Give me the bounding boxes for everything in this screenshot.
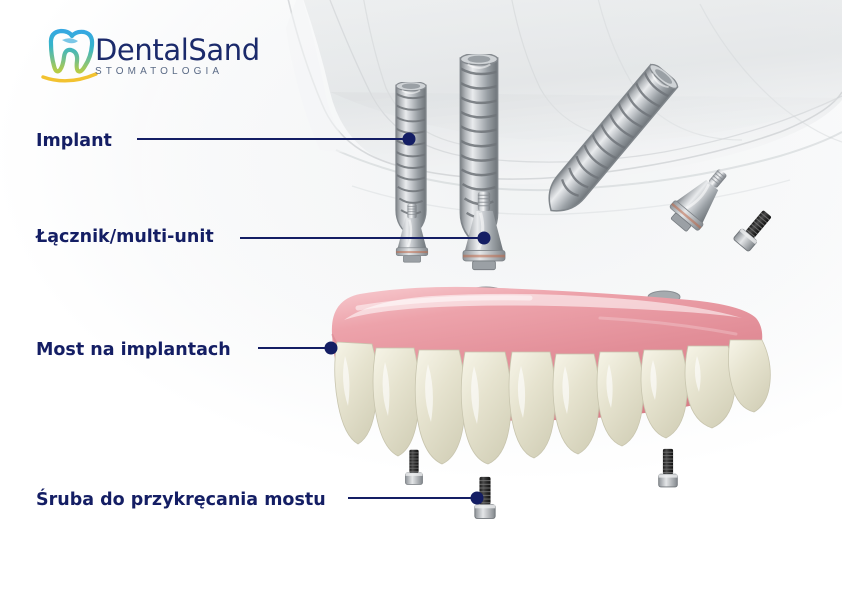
callout-leader-sruba-do-przykrecania-mostu: [348, 497, 472, 499]
callout-leader-implant: [137, 138, 404, 140]
brand-tagline: STOMATOLOGIA: [95, 66, 255, 78]
callout-label-implant: Implant: [36, 131, 112, 151]
callout-label-sruba-do-przykrecania-mostu: Śruba do przykręcania mostu: [36, 490, 326, 510]
tooth-logo-icon: [38, 26, 100, 88]
callout-dot-most-na-implantach: [325, 342, 338, 355]
brand-wordmark: DentalSand STOMATOLOGIA: [95, 35, 255, 78]
brand-name: DentalSand: [95, 35, 255, 65]
callout-label-most-na-implantach: Most na implantach: [36, 340, 231, 360]
callout-dot-lacznik-multi-unit: [478, 232, 491, 245]
brand-logo[interactable]: DentalSand STOMATOLOGIA: [38, 26, 253, 88]
infographic-canvas: DentalSand STOMATOLOGIA Implant Łącznik/…: [0, 0, 842, 596]
callout-leader-most-na-implantach: [258, 347, 326, 349]
callout-dot-implant: [403, 133, 416, 146]
callout-label-lacznik-multi-unit: Łącznik/multi-unit: [36, 227, 214, 247]
callout-leader-lacznik-multi-unit: [240, 237, 479, 239]
callout-dot-sruba-do-przykrecania-mostu: [471, 492, 484, 505]
